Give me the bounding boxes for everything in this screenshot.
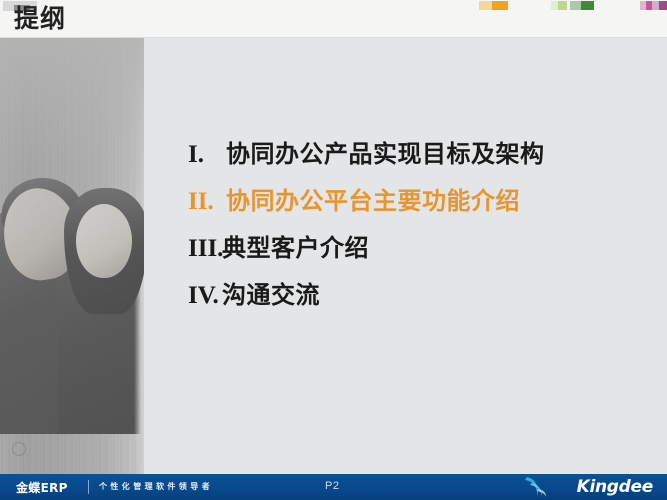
agenda-item[interactable]: I.协同办公产品实现目标及架构	[188, 134, 658, 181]
agenda-item-label: 典型客户介绍	[222, 228, 369, 263]
chip-orange	[479, 1, 508, 10]
page-title: 提纲	[14, 4, 66, 34]
chip-purple	[652, 1, 667, 10]
kingdee-logo: Kingdee	[523, 476, 653, 498]
sidebar-photo	[0, 38, 144, 474]
chip-dark-green-highlight	[570, 1, 581, 10]
chip-light-green-highlight	[551, 1, 558, 10]
slide: 提纲 I.协同办公产品实现目标及架构II.协同办公平台主要功能介绍III.典型客…	[0, 0, 667, 500]
agenda-item-numeral: IV.	[188, 282, 222, 310]
agenda-item-numeral: II.	[188, 188, 226, 216]
chip-orange-highlight	[479, 1, 492, 10]
agenda-item[interactable]: III.典型客户介绍	[188, 228, 658, 275]
footer-tagline: 个性化管理软件领导者	[99, 481, 213, 492]
chip-magenta-highlight	[640, 1, 646, 10]
footer-brand: 金蝶ERP	[16, 479, 68, 496]
agenda-item-label: 沟通交流	[222, 275, 320, 310]
agenda-item[interactable]: II.协同办公平台主要功能介绍	[188, 181, 658, 228]
swoosh-icon	[525, 476, 551, 498]
agenda-list: I.协同办公产品实现目标及架构II.协同办公平台主要功能介绍III.典型客户介绍…	[188, 134, 658, 322]
kingdee-logo-text: Kingdee	[577, 477, 653, 497]
agenda-item-numeral: III.	[188, 235, 222, 263]
agenda-item-label: 协同办公平台主要功能介绍	[226, 181, 520, 216]
slide-body: I.协同办公产品实现目标及架构II.协同办公平台主要功能介绍III.典型客户介绍…	[144, 38, 667, 474]
photo-overlay	[0, 38, 144, 474]
agenda-item[interactable]: IV.沟通交流	[188, 275, 658, 322]
agenda-item-numeral: I.	[188, 141, 226, 169]
agenda-item-label: 协同办公产品实现目标及架构	[226, 134, 545, 169]
slide-footer: 金蝶ERP 个性化管理软件领导者 P2 Kingdee	[0, 474, 667, 500]
chip-light-green	[551, 1, 567, 10]
photo-watermark	[12, 442, 26, 456]
page-number: P2	[325, 480, 339, 492]
chip-dark-green	[570, 1, 594, 10]
chip-purple-highlight	[652, 1, 659, 10]
footer-divider	[88, 480, 89, 494]
